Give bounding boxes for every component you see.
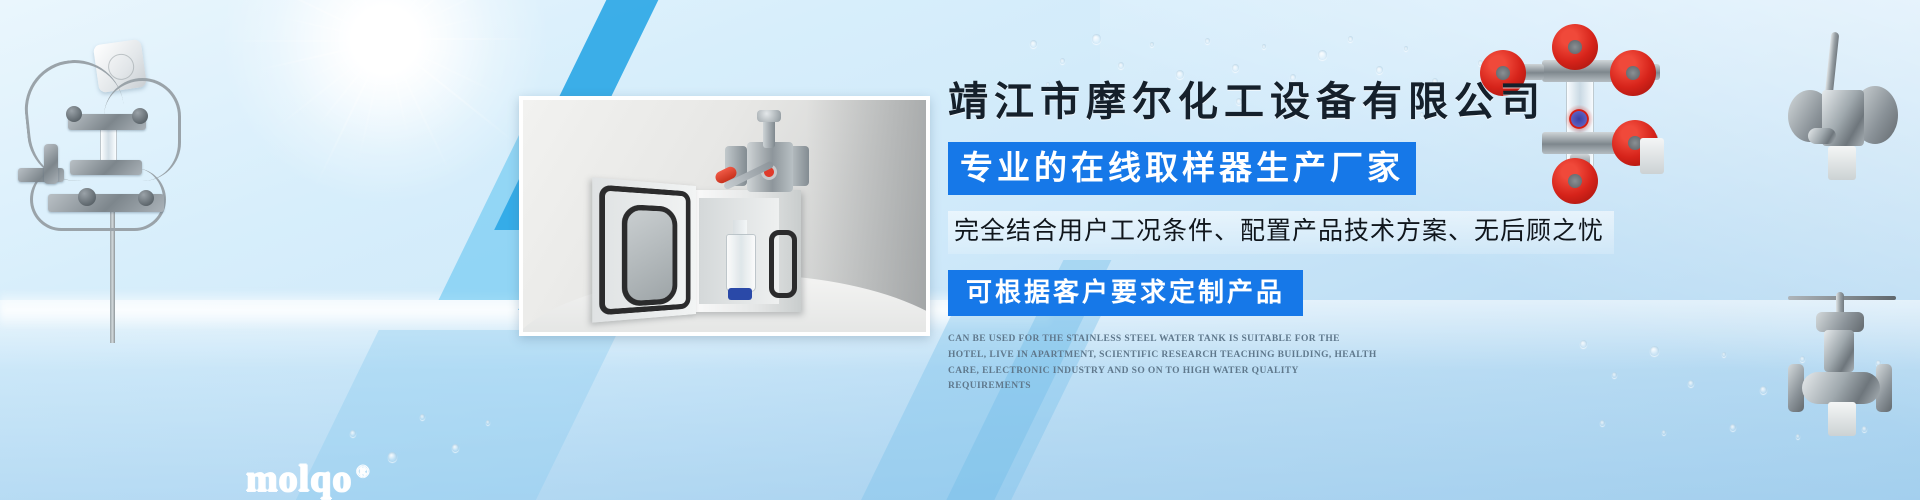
sampling-valve-head xyxy=(721,116,813,202)
sun-ray xyxy=(299,40,385,83)
water-droplet xyxy=(1404,46,1408,51)
tagline-badge: 专业的在线取样器生产厂家 xyxy=(948,142,1416,195)
sun-ray xyxy=(385,38,532,40)
lever-handle-shaft xyxy=(1825,32,1840,96)
water-droplet xyxy=(1662,430,1666,435)
water-droplet xyxy=(1376,66,1383,74)
company-name: 靖江市摩尔化工设备有限公司 xyxy=(948,80,1708,124)
valve-knob-4 xyxy=(138,190,154,206)
english-description: CAN BE USED FOR THE STAINLESS STEEL WATE… xyxy=(948,332,1378,395)
custom-note-badge: 可根据客户要求定制产品 xyxy=(948,270,1303,316)
left-product-image xyxy=(8,18,183,308)
center-product-photo xyxy=(519,96,930,336)
sample-bottle xyxy=(726,234,756,292)
water-droplet xyxy=(1060,58,1065,64)
flange-mid xyxy=(70,160,142,175)
handwheel-valve-neck xyxy=(1824,330,1854,372)
door-window xyxy=(622,204,677,307)
water-droplet xyxy=(452,444,459,452)
cabinet-door xyxy=(592,177,696,322)
water-droplet xyxy=(486,420,490,425)
bottle-cap xyxy=(728,288,752,300)
water-droplet xyxy=(1348,36,1353,42)
sun-ray xyxy=(216,40,385,42)
subline-text: 完全结合用户工况条件、配置产品技术方案、无后顾之忧 xyxy=(948,211,1614,254)
cabinet-side-handle xyxy=(769,230,797,298)
right-product-handwheel-valve xyxy=(1780,272,1910,447)
water-droplet xyxy=(350,430,356,437)
water-droplet xyxy=(1232,64,1239,72)
water-droplet xyxy=(1205,38,1210,44)
valve-knob-1 xyxy=(66,106,82,122)
water-droplet xyxy=(420,414,425,420)
watermark-logo: molqo® xyxy=(246,460,370,498)
handwheel-valve-bonnet xyxy=(1816,312,1864,332)
sun-ray xyxy=(385,40,387,130)
lever-valve-outlet-cup xyxy=(1828,146,1856,180)
relief-valve xyxy=(44,144,58,184)
handwheel-valve-outlet-cup xyxy=(1828,402,1856,436)
water-droplet xyxy=(1760,386,1767,394)
right-product-lever-valve xyxy=(1778,28,1908,203)
copy-block: 靖江市摩尔化工设备有限公司 专业的在线取样器生产厂家 完全结合用户工况条件、配置… xyxy=(948,80,1708,395)
logo-text: molqo xyxy=(246,458,352,500)
water-droplet xyxy=(1118,62,1124,69)
water-droplet xyxy=(1150,42,1154,47)
water-droplet xyxy=(1030,40,1037,48)
water-droplet xyxy=(1262,44,1266,49)
water-droplet xyxy=(1722,352,1726,357)
water-droplet xyxy=(1730,424,1736,431)
promo-banner: 靖江市摩尔化工设备有限公司 专业的在线取样器生产厂家 完全结合用户工况条件、配置… xyxy=(0,0,1920,500)
valve-knob-3 xyxy=(78,188,96,206)
handwheel-valve-body xyxy=(1802,372,1880,404)
valve-knob-2 xyxy=(132,108,148,124)
registered-mark-icon: ® xyxy=(356,462,370,481)
valve-knob xyxy=(757,110,781,122)
water-droplet xyxy=(1600,420,1605,426)
handwheel-top xyxy=(1552,24,1598,70)
lever-valve-port xyxy=(1808,128,1836,144)
